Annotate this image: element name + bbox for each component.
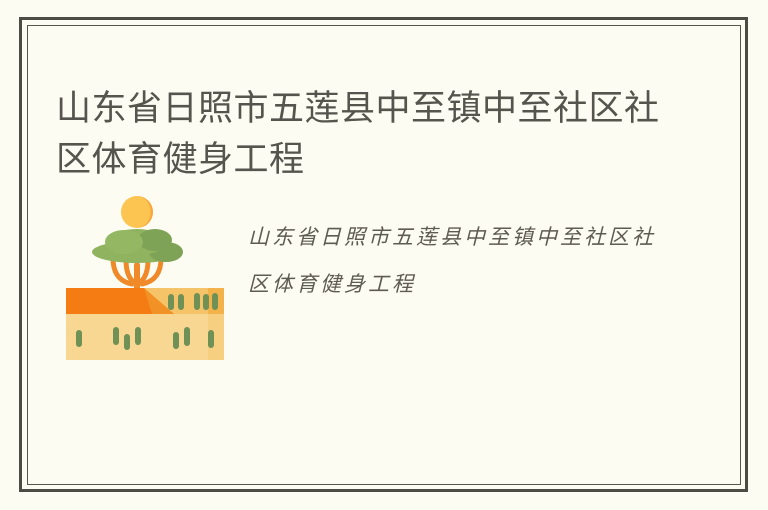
body-text: 山东省日照市五莲县中至镇中至社区社区体育健身工程 [248, 214, 678, 308]
savanna-landscape-icon [56, 190, 226, 365]
savanna-landscape-illustration [56, 190, 226, 365]
sun-icon [121, 196, 153, 228]
card-body: 山东省日照市五莲县中至镇中至社区社区体育健身工程 [28, 26, 740, 484]
content-row: 山东省日照市五莲县中至镇中至社区社区体育健身工程 [56, 190, 706, 365]
page-title: 山东省日照市五莲县中至镇中至社区社区体育健身工程 [56, 83, 676, 185]
page-root: 山东省日照市五莲县中至镇中至社区社区体育健身工程 [0, 0, 768, 510]
acacia-tree-canopy-icon [92, 229, 183, 263]
sand-lower-band [66, 308, 224, 360]
